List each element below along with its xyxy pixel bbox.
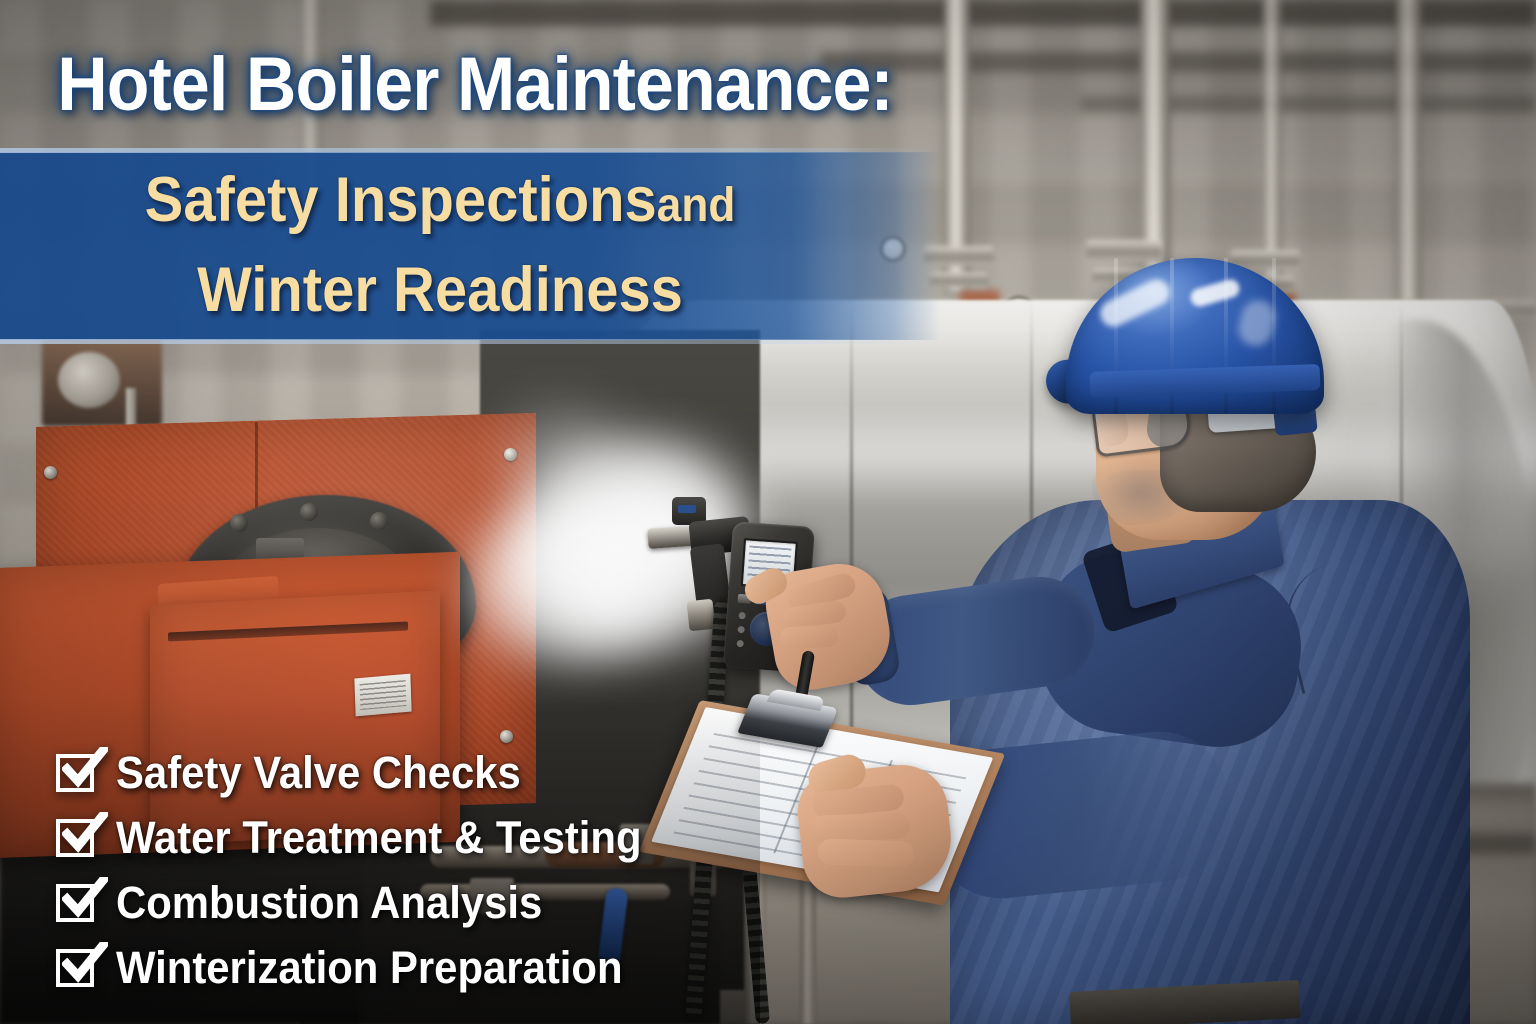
subtitle-line-1-main: Safety Inspections (145, 165, 657, 235)
subtitle-line-1: Safety Inspectionsand (35, 158, 845, 248)
list-item: Winterization Preparation (56, 935, 681, 1000)
analyzer-indicator-dot (737, 626, 744, 633)
checked-checkbox-icon (56, 949, 94, 987)
list-item-label: Safety Valve Checks (116, 749, 521, 797)
poster-canvas: Hotel Boiler Maintenance: Safety Inspect… (0, 0, 1536, 1024)
title-block: Hotel Boiler Maintenance: (0, 44, 950, 126)
worker-finger (818, 838, 915, 867)
maintenance-checklist: Safety Valve Checks Water Treatment & Te… (56, 740, 681, 1000)
checked-checkbox-icon (56, 819, 94, 857)
subtitle-line-1-conjunction: and (657, 179, 736, 232)
list-item-label: Water Treatment & Testing (116, 814, 642, 862)
list-item-label: Combustion Analysis (116, 879, 542, 927)
subtitle-block: Safety Inspectionsand Winter Readiness (0, 158, 880, 333)
list-item: Safety Valve Checks (56, 740, 681, 805)
analyzer-indicator-dot (736, 640, 743, 647)
list-item: Water Treatment & Testing (56, 805, 681, 870)
list-item-label: Winterization Preparation (116, 944, 623, 992)
checkmark-icon (62, 812, 108, 856)
list-item: Combustion Analysis (56, 870, 681, 935)
checked-checkbox-icon (56, 884, 94, 922)
checkmark-icon (62, 747, 108, 791)
checkmark-icon (62, 877, 108, 921)
checked-checkbox-icon (56, 754, 94, 792)
worker-finger (779, 624, 838, 649)
analyzer-indicator-dot (738, 612, 745, 619)
checkmark-icon (62, 942, 108, 986)
worker-finger (812, 812, 911, 841)
subtitle-line-2: Winter Readiness (35, 248, 845, 333)
page-title: Hotel Boiler Maintenance: (38, 44, 912, 126)
